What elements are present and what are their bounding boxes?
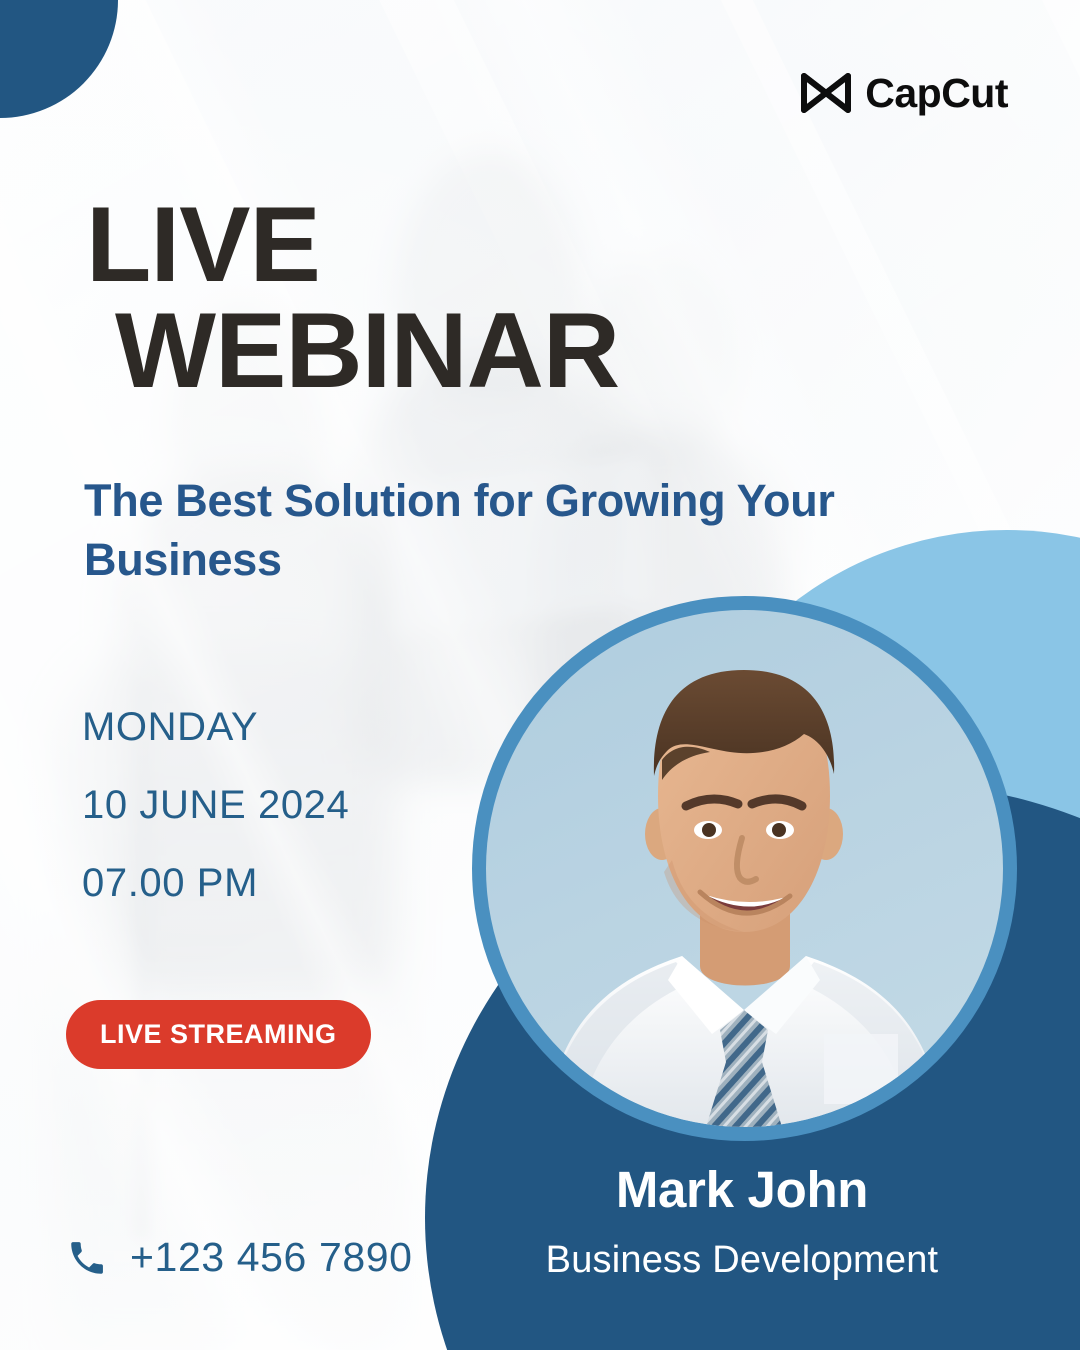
subtitle-line-1: The Best Solution for Growing — [84, 475, 725, 526]
title-line-1: LIVE — [86, 184, 320, 304]
schedule-block: MONDAY 10 JUNE 2024 07.00 PM — [82, 707, 349, 941]
schedule-day: MONDAY — [82, 707, 349, 747]
contact-phone[interactable]: +123 456 7890 — [66, 1234, 413, 1281]
speaker-block: Mark John Business Development — [444, 1160, 1040, 1282]
schedule-date: 10 JUNE 2024 — [82, 785, 349, 825]
schedule-time: 07.00 PM — [82, 863, 349, 903]
phone-icon — [66, 1237, 108, 1279]
capcut-logo-text: CapCut — [865, 73, 1008, 114]
speaker-portrait-illustration — [486, 610, 1003, 1127]
speaker-role: Business Development — [444, 1239, 1040, 1282]
live-streaming-badge[interactable]: LIVE STREAMING — [66, 1000, 371, 1069]
capcut-logo-icon — [801, 72, 851, 114]
speaker-name: Mark John — [444, 1160, 1040, 1219]
avatar — [486, 610, 1003, 1127]
subtitle: The Best Solution for Growing Your Busin… — [84, 471, 844, 590]
page-title: LIVE WEBINAR — [86, 192, 619, 404]
phone-number: +123 456 7890 — [130, 1234, 413, 1281]
capcut-logo: CapCut — [801, 72, 1008, 114]
webinar-poster: CapCut LIVE WEBINAR The Best Solution fo… — [0, 0, 1080, 1350]
title-line-2: WEBINAR — [115, 298, 619, 404]
